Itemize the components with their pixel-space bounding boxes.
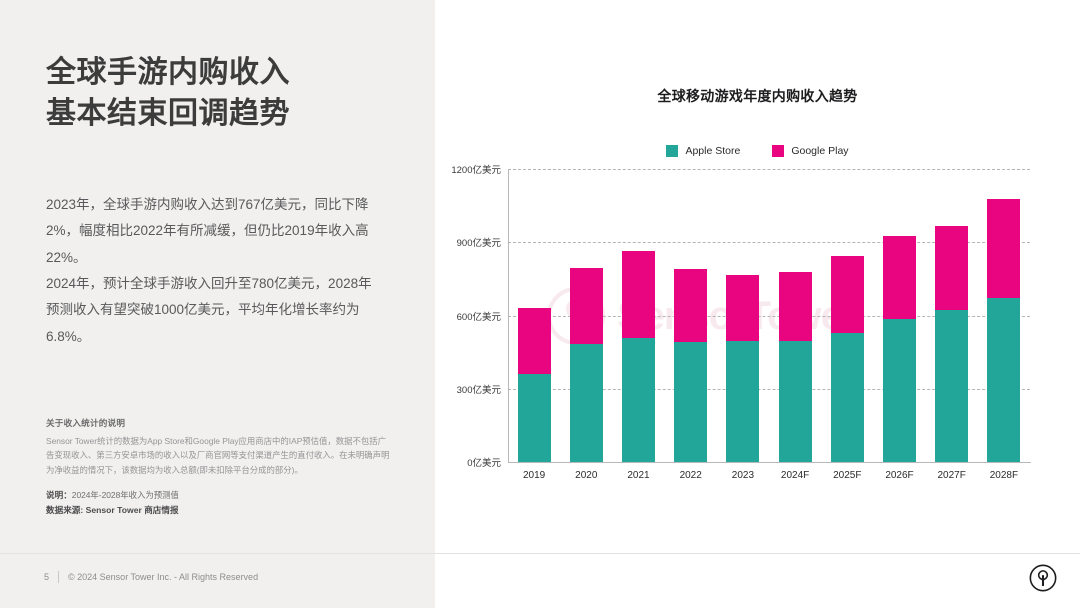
x-axis-tick-label: 2026F bbox=[873, 470, 926, 481]
note-heading: 关于收入统计的说明 bbox=[46, 417, 391, 429]
bar-column[interactable] bbox=[674, 169, 707, 462]
bar-segment-apple-store[interactable] bbox=[570, 344, 603, 462]
bar-segment-apple-store[interactable] bbox=[622, 338, 655, 462]
y-axis-tick-label: 0亿美元 bbox=[435, 455, 501, 469]
bar-segment-google-play[interactable] bbox=[726, 275, 759, 342]
left-content-panel: 全球手游内购收入 基本结束回调趋势 2023年，全球手游内购收入达到767亿美元… bbox=[0, 0, 435, 608]
y-axis-tick-label: 300亿美元 bbox=[435, 382, 501, 396]
bar-segment-google-play[interactable] bbox=[935, 226, 968, 310]
bar-column[interactable] bbox=[518, 169, 551, 462]
legend-swatch-icon bbox=[772, 145, 784, 157]
bar-segment-apple-store[interactable] bbox=[883, 319, 916, 462]
note-source-value: Sensor Tower 商店情报 bbox=[86, 505, 179, 515]
note-source-label: 数据来源: bbox=[46, 505, 83, 515]
bar-segment-apple-store[interactable] bbox=[726, 341, 759, 462]
note-body: Sensor Tower统计的数据为App Store和Google Play应… bbox=[46, 434, 391, 477]
bar-column[interactable] bbox=[883, 169, 916, 462]
x-axis-tick-label: 2022 bbox=[664, 470, 717, 481]
page-title: 全球手游内购收入 基本结束回调趋势 bbox=[46, 52, 406, 135]
note-forecast-value: 2024年-2028年收入为预测值 bbox=[72, 490, 179, 500]
bar-segment-google-play[interactable] bbox=[622, 251, 655, 338]
plot-area bbox=[508, 169, 1030, 462]
footer-separator bbox=[58, 571, 59, 583]
bar-column[interactable] bbox=[570, 169, 603, 462]
body-paragraph-2: 2024年，预计全球手游收入回升至780亿美元，2028年预测收入有望突破100… bbox=[46, 271, 376, 350]
y-axis-tick-label: 1200亿美元 bbox=[435, 162, 501, 176]
x-axis-tick-label: 2024F bbox=[769, 470, 822, 481]
x-axis-tick-label: 2028F bbox=[977, 470, 1030, 481]
note-forecast-label: 说明： bbox=[46, 490, 72, 500]
x-axis-tick-label: 2023 bbox=[716, 470, 769, 481]
bar-segment-apple-store[interactable] bbox=[674, 342, 707, 462]
methodology-note: 关于收入统计的说明 Sensor Tower统计的数据为App Store和Go… bbox=[46, 417, 391, 516]
chart-legend: Apple StoreGoogle Play bbox=[435, 145, 1080, 157]
bar-segment-apple-store[interactable] bbox=[935, 310, 968, 462]
note-source: 数据来源: Sensor Tower 商店情报 bbox=[46, 504, 391, 516]
x-axis-line bbox=[508, 462, 1031, 463]
y-axis-tick-label: 600亿美元 bbox=[435, 309, 501, 323]
legend-label: Google Play bbox=[791, 145, 848, 157]
bar-segment-apple-store[interactable] bbox=[518, 374, 551, 462]
bar-column[interactable] bbox=[987, 169, 1020, 462]
legend-item-2[interactable]: Google Play bbox=[772, 145, 848, 157]
note-forecast: 说明：2024年-2028年收入为预测值 bbox=[46, 489, 391, 501]
bar-segment-apple-store[interactable] bbox=[987, 298, 1020, 462]
x-axis-tick-label: 2027F bbox=[925, 470, 978, 481]
bar-segment-google-play[interactable] bbox=[987, 199, 1020, 298]
x-axis-tick-label: 2020 bbox=[560, 470, 613, 481]
y-axis-tick-label: 900亿美元 bbox=[435, 235, 501, 249]
bar-column[interactable] bbox=[831, 169, 864, 462]
bar-segment-google-play[interactable] bbox=[570, 268, 603, 343]
bar-segment-apple-store[interactable] bbox=[779, 341, 812, 462]
legend-label: Apple Store bbox=[685, 145, 740, 157]
bar-segment-google-play[interactable] bbox=[674, 269, 707, 343]
bar-column[interactable] bbox=[935, 169, 968, 462]
chart-title: 全球移动游戏年度内购收入趋势 bbox=[435, 86, 1080, 106]
bar-column[interactable] bbox=[622, 169, 655, 462]
x-axis-tick-label: 2019 bbox=[508, 470, 561, 481]
bar-segment-google-play[interactable] bbox=[831, 256, 864, 333]
x-axis-tick-label: 2021 bbox=[612, 470, 665, 481]
body-paragraph-1: 2023年，全球手游内购收入达到767亿美元，同比下降2%，幅度相比2022年有… bbox=[46, 192, 376, 271]
bar-segment-google-play[interactable] bbox=[518, 308, 551, 374]
bar-column[interactable] bbox=[726, 169, 759, 462]
bar-segment-google-play[interactable] bbox=[779, 272, 812, 341]
bar-segment-apple-store[interactable] bbox=[831, 333, 864, 462]
x-axis-tick-label: 2025F bbox=[821, 470, 874, 481]
footer-divider-line bbox=[0, 553, 1080, 554]
bar-segment-google-play[interactable] bbox=[883, 236, 916, 319]
page-number: 5 bbox=[44, 572, 49, 582]
footer: 5 © 2024 Sensor Tower Inc. - All Rights … bbox=[44, 571, 258, 583]
chart-panel: 全球移动游戏年度内购收入趋势 Apple StoreGoogle Play Se… bbox=[435, 0, 1080, 553]
copyright-text: © 2024 Sensor Tower Inc. - All Rights Re… bbox=[68, 572, 258, 582]
bar-column[interactable] bbox=[779, 169, 812, 462]
legend-swatch-icon bbox=[666, 145, 678, 157]
sensor-tower-logo-icon bbox=[1028, 563, 1058, 593]
legend-item-1[interactable]: Apple Store bbox=[666, 145, 740, 157]
